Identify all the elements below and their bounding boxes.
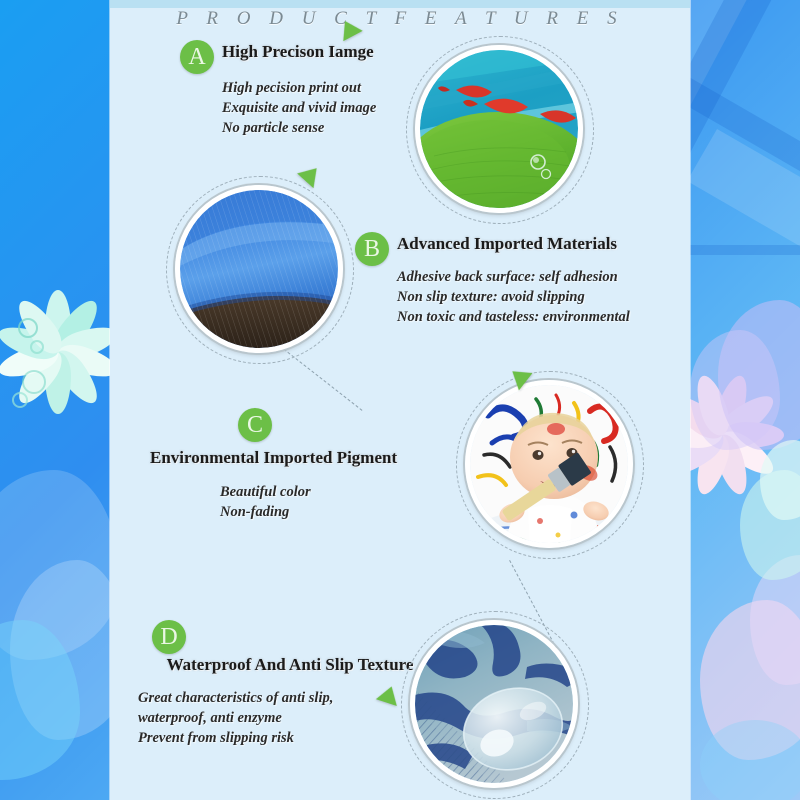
soft-petal-shape	[750, 555, 800, 685]
feature-title-a: High Precison Iamge	[222, 42, 374, 62]
koi-fish-pond-photo	[420, 50, 578, 208]
soft-petal-shape	[760, 440, 800, 520]
diagonal-band	[687, 129, 800, 271]
soft-petal-shape	[0, 470, 120, 660]
feature-photo-c	[465, 380, 633, 548]
photo-ring	[410, 620, 578, 788]
feature-line: Non toxic and tasteless: environmental	[397, 307, 630, 327]
feature-line: No particle sense	[222, 118, 376, 138]
diagonal-band	[690, 245, 800, 255]
feature-line: Prevent from slipping risk	[138, 728, 333, 748]
feature-line: Adhesive back surface: self adhesion	[397, 267, 630, 287]
content-panel: P R O D U C T F E A T U R E S A High Pre…	[110, 0, 690, 800]
feature-photo-b	[175, 185, 343, 353]
panel-header-strip	[110, 0, 690, 8]
soft-petal-shape	[700, 600, 800, 760]
page-title: P R O D U C T F E A T U R E S	[110, 8, 690, 30]
feature-title-c: Environmental Imported Pigment	[150, 448, 397, 468]
feature-lines-d: Great characteristics of anti slip, wate…	[138, 688, 333, 748]
swirl-accent	[30, 340, 44, 354]
feature-badge-c: C	[238, 408, 272, 442]
product-features-poster: P R O D U C T F E A T U R E S A High Pre…	[0, 0, 800, 800]
feature-line: waterproof, anti enzyme	[138, 708, 333, 728]
feature-photo-a	[415, 45, 583, 213]
soft-petal-shape	[0, 620, 80, 780]
blue-fabric-texture-photo	[180, 190, 338, 348]
feature-line: Non slip texture: avoid slipping	[397, 287, 630, 307]
soft-petal-shape	[718, 300, 800, 450]
feature-line: Great characteristics of anti slip,	[138, 688, 333, 708]
feature-lines-b: Adhesive back surface: self adhesion Non…	[397, 267, 630, 327]
soft-petal-shape	[690, 330, 780, 450]
swirl-accent	[12, 392, 28, 408]
feature-badge-d: D	[152, 620, 186, 654]
feature-badge-a: A	[180, 40, 214, 74]
feature-line: Beautiful color	[220, 482, 311, 502]
feature-badge-b: B	[355, 232, 389, 266]
arrow-marker-d	[376, 683, 402, 706]
soft-petal-shape	[740, 470, 800, 580]
feature-photo-d	[410, 620, 578, 788]
feature-line: Exquisite and vivid image	[222, 98, 376, 118]
photo-ring	[175, 185, 343, 353]
photo-ring	[415, 45, 583, 213]
feature-line: High pecision print out	[222, 78, 376, 98]
feature-lines-c: Beautiful color Non-fading	[220, 482, 311, 522]
photo-ring	[465, 380, 633, 548]
baby-painting-photo	[470, 385, 628, 543]
feature-lines-a: High pecision print out Exquisite and vi…	[222, 78, 376, 138]
feature-line: Non-fading	[220, 502, 311, 522]
feature-title-b: Advanced Imported Materials	[397, 234, 617, 254]
swirl-accent	[18, 318, 38, 338]
swirl-accent	[22, 370, 46, 394]
soft-circle-accent	[700, 720, 800, 800]
arrow-marker-b	[297, 161, 325, 188]
water-droplet-texture-photo	[415, 625, 573, 783]
